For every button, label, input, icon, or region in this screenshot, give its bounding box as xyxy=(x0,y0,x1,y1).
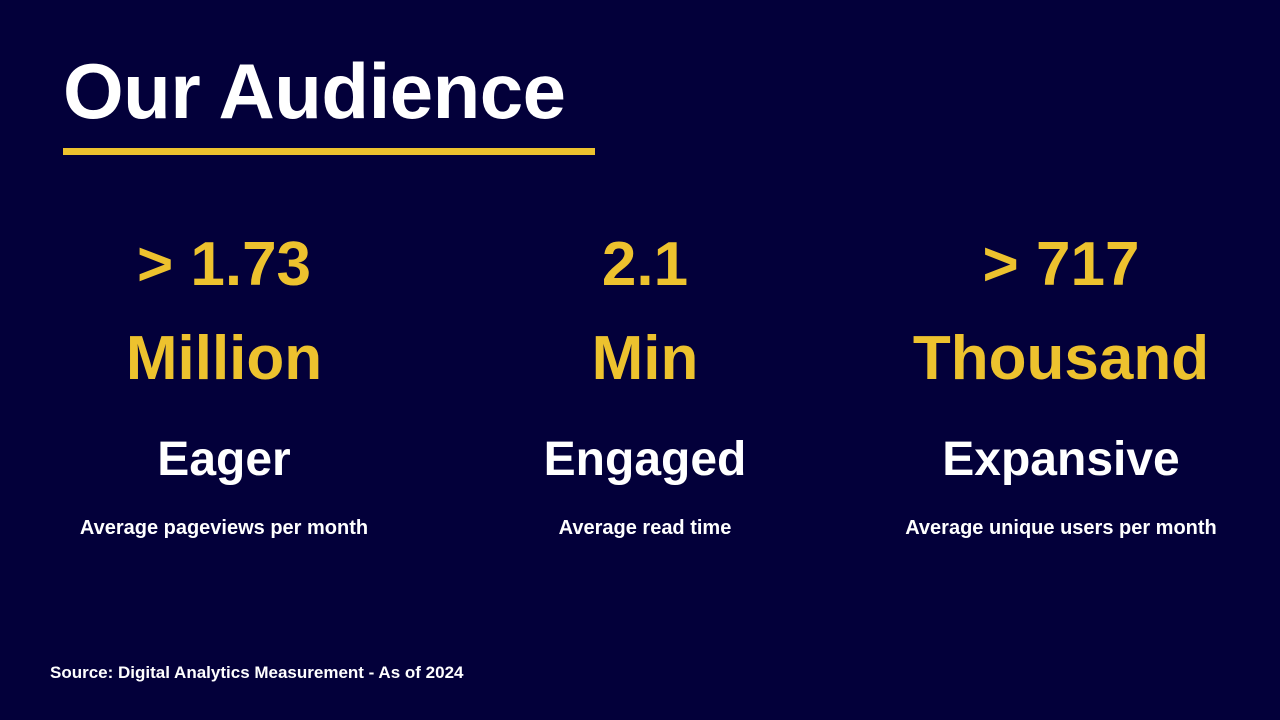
stat-value-line-2: Thousand xyxy=(846,312,1276,406)
slide-root: Our Audience > 1.73 Million Eager Averag… xyxy=(0,0,1280,720)
stat-value-line-1: > 1.73 xyxy=(4,218,444,312)
stat-value-engaged: 2.1 Min xyxy=(452,218,838,406)
title-underline-rule xyxy=(63,148,595,155)
page-title: Our Audience xyxy=(63,52,595,130)
stat-label-eager: Eager xyxy=(4,436,444,484)
stat-card-engaged: 2.1 Min Engaged Average read time xyxy=(448,218,842,543)
stat-value-expansive: > 717 Thousand xyxy=(846,218,1276,406)
stat-card-expansive: > 717 Thousand Expansive Average unique … xyxy=(842,218,1280,543)
stat-value-eager: > 1.73 Million xyxy=(4,218,444,406)
stat-value-line-2: Min xyxy=(452,312,838,406)
stats-row: > 1.73 Million Eager Average pageviews p… xyxy=(0,218,1280,543)
stat-value-line-2: Million xyxy=(4,312,444,406)
stat-caption-engaged: Average read time xyxy=(452,513,838,543)
source-note: Source: Digital Analytics Measurement - … xyxy=(50,663,463,683)
stat-value-line-1: 2.1 xyxy=(452,218,838,312)
title-block: Our Audience xyxy=(63,52,595,155)
stat-card-eager: > 1.73 Million Eager Average pageviews p… xyxy=(0,218,448,543)
stat-value-line-1: > 717 xyxy=(846,218,1276,312)
stat-caption-eager: Average pageviews per month xyxy=(4,513,444,543)
stat-label-engaged: Engaged xyxy=(452,436,838,484)
stat-caption-expansive: Average unique users per month xyxy=(846,513,1276,543)
stat-label-expansive: Expansive xyxy=(846,436,1276,484)
